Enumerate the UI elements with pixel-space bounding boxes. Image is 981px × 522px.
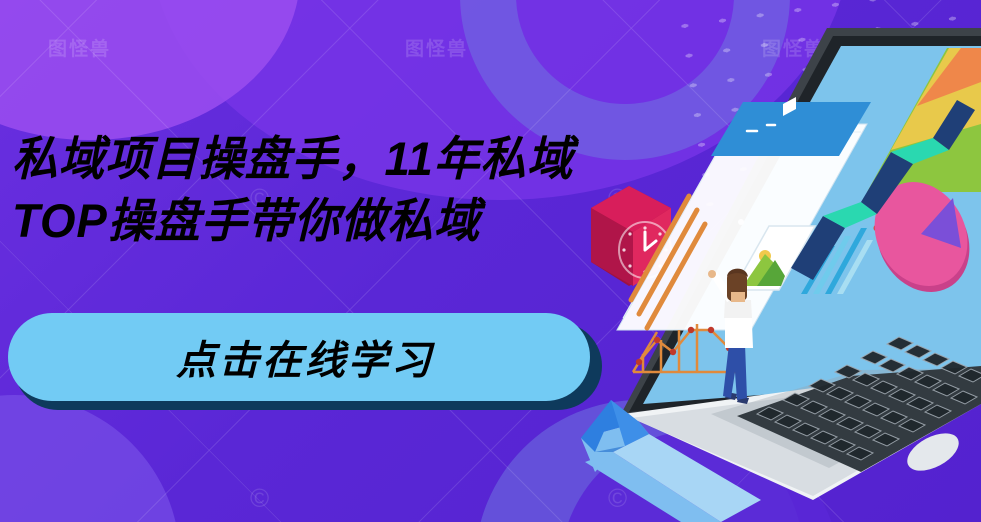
promo-poster: 图怪兽 图怪兽 图怪兽 图怪兽 图怪兽 图怪兽 © © © © <box>0 0 981 522</box>
background-diagonal-lines <box>0 0 981 522</box>
headline-line-1: 私域项目操盘手，11年私域 <box>12 128 749 190</box>
learn-online-button[interactable]: 点击在线学习 <box>8 313 590 401</box>
cta-button-label: 点击在线学习 <box>176 328 434 386</box>
cta-button-wrapper: 点击在线学习 <box>8 313 596 413</box>
headline-line-2: TOP操盘手带你做私域 <box>12 190 749 252</box>
page-title: 私域项目操盘手，11年私域 TOP操盘手带你做私域 <box>12 128 772 252</box>
